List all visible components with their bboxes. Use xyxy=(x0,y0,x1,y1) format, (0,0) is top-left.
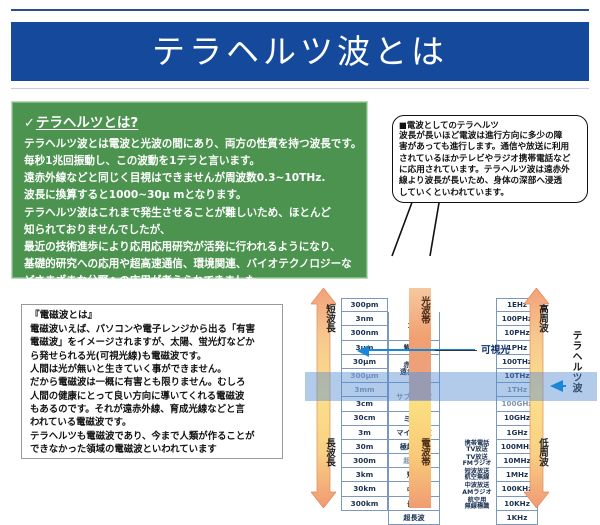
em-line: 人間は光が無いと生きていく事ができません。 xyxy=(30,363,275,376)
electromagnetic-wave-panel: 『電磁波とは』 電磁波いえば、パソコンや電子レンジから出る「有害 電磁波」をイメ… xyxy=(21,304,283,459)
visible-light-leader xyxy=(435,350,477,351)
terahertz-arrow-icon xyxy=(550,380,566,392)
callout-line: に応用されています。テラヘルツ波は遠赤外 xyxy=(399,165,582,176)
green-line: 遠赤外線などと同じく目視はできませんが周波数0.3~10THz. xyxy=(24,170,356,187)
page-title-banner: テラヘルツ波とは xyxy=(11,22,589,81)
green-line: 知られておりませんでしたが、 xyxy=(24,222,356,239)
wavelength-cell: 300m xyxy=(341,454,388,468)
radio-wave-callout: ■電波としてのテラヘルツ 波長が長いほど電波は進行方向に多少の障 害があっても進… xyxy=(392,115,588,203)
low-frequency-label: 低周波 xyxy=(524,438,549,467)
long-wavelength-label: 長波長 xyxy=(311,438,336,467)
green-line: 基礎的研究への応用や超高速通信、環境関連、バイオテクノロジーな xyxy=(24,256,356,273)
wavelength-cell: 3mm xyxy=(341,383,388,397)
wavelength-cell: 300μm xyxy=(341,369,388,383)
short-wavelength-label: 短波長 xyxy=(311,304,336,333)
em-line: できなかった領域の電磁波といわれています xyxy=(30,443,275,456)
em-line: 人間の健康にとって良い方向に導いてくれる電磁波 xyxy=(30,390,275,403)
callout-line: していくといわれています。 xyxy=(399,188,582,199)
application-column: 携帯電話TV放送TV放送FMラジオ短波放送航空無線中波放送AMラジオ航空用無線標… xyxy=(455,440,499,511)
terahertz-definition-heading: ✓ テラヘルツとは? xyxy=(24,111,356,131)
terahertz-definition-body: テラヘルツ波とは電波と光波の間にあり、両方の性質を持つ波長です。 毎秒1兆回振動… xyxy=(24,136,356,290)
visible-light-label: 可視光 xyxy=(481,342,510,356)
optical-band-label: 光波帯 xyxy=(409,296,431,324)
frequency-axis-arrow: 高周波 低周波 xyxy=(524,288,549,508)
terahertz-wave-label: テラヘルツ波 xyxy=(568,330,583,393)
radio-band-label: 電波帯 xyxy=(409,438,431,466)
em-line: だから電磁波は一概に有害とも限りません。むしろ xyxy=(30,376,275,389)
frequency-cell: 1KHz xyxy=(496,511,538,525)
wave-name-cell: 超長波 xyxy=(388,511,440,525)
wavelength-cell: 30cm xyxy=(341,412,388,426)
application-cell: 短波放送航空無線 xyxy=(455,468,499,482)
em-line: もあるのです。それが遠赤外線、育成光線などと言 xyxy=(30,403,275,416)
infographic-page: テラヘルツ波とは ✓ テラヘルツとは? テラヘルツ波とは電波と光波の間にあり、両… xyxy=(0,0,600,517)
green-line: テラヘルツ波はこれまで発生させることが難しいため、ほとんど xyxy=(24,205,356,222)
em-line: 電磁波」をイメージされますが、太陽、蛍光灯などか xyxy=(30,336,275,349)
em-line: 電磁波いえば、パソコンや電子レンジから出る「有害 xyxy=(30,323,275,336)
page-title: テラヘルツ波とは xyxy=(152,35,448,68)
green-line: 毎秒1兆回振動し、この波動を1テラと言います。 xyxy=(24,153,356,170)
electromagnetic-spectrum-chart: 短波長 長波長 300pm3nm300nm3μm30μm300μm3mm3cm3… xyxy=(305,288,597,513)
callout-line: されているほかテレビやラジオ携帯電話など xyxy=(399,154,582,165)
high-frequency-label: 高周波 xyxy=(524,304,549,333)
em-panel-heading: 『電磁波とは』 xyxy=(30,310,275,323)
wavelength-cell: 3nm xyxy=(341,312,388,326)
wavelength-cell: 300nm xyxy=(341,326,388,340)
top-divider xyxy=(11,9,589,11)
callout-line: 波長が長いほど電波は進行方向に多少の障 xyxy=(399,131,582,142)
callout-heading: ■電波としてのテラヘルツ xyxy=(399,120,582,131)
em-line: われている電磁波です。 xyxy=(30,416,275,429)
wavelength-column: 300pm3nm300nm3μm30μm300μm3mm3cm30cm3m30m… xyxy=(341,298,388,511)
callout-line: 線より波長が長いため、身体の深部へ浸透 xyxy=(399,176,582,187)
band-bar: 光波帯 電波帯 xyxy=(409,288,431,508)
application-cell: 中波放送AMラジオ xyxy=(455,483,499,497)
terahertz-definition-panel: ✓ テラヘルツとは? テラヘルツ波とは電波と光波の間にあり、両方の性質を持つ波長… xyxy=(12,102,367,278)
em-line: テラヘルツも電磁波であり、今まで人類が作ることが xyxy=(30,430,275,443)
visible-light-arrow-icon xyxy=(357,345,371,357)
em-line: ら発せられる光(可視光線)も電磁波です。 xyxy=(30,350,275,363)
application-cell: 航空用無線標識 xyxy=(455,497,499,511)
check-mark-icon: ✓ xyxy=(24,116,35,131)
wavelength-cell: 30km xyxy=(341,482,388,496)
green-line: 波長に換算すると1000~30μ mとなります。 xyxy=(24,187,356,204)
title-underline xyxy=(11,88,589,89)
wavelength-cell: 300km xyxy=(341,497,388,511)
green-line: テラヘルツ波とは電波と光波の間にあり、両方の性質を持つ波長です。 xyxy=(24,136,356,153)
wavelength-cell: 300pm xyxy=(341,298,388,312)
callout-line: 害があっても進行します。通信や放送に利用 xyxy=(399,142,582,153)
wavelength-cell: 3cm xyxy=(341,397,388,411)
wavelength-cell: 30m xyxy=(341,440,388,454)
wavelength-axis-arrow: 短波長 長波長 xyxy=(311,288,336,508)
application-cell: 携帯電話TV放送 xyxy=(455,440,499,454)
callout-tail xyxy=(380,196,480,258)
terahertz-definition-heading-text: テラヘルツとは? xyxy=(36,111,138,131)
wavelength-cell: 3m xyxy=(341,426,388,440)
green-line: 最近の技術進歩により応用応用研究が活発に行われるようになり、 xyxy=(24,239,356,256)
em-panel-body: 電磁波いえば、パソコンや電子レンジから出る「有害 電磁波」をイメージされますが、… xyxy=(30,323,275,456)
application-cell: TV放送FMラジオ xyxy=(455,454,499,468)
wavelength-cell: 3km xyxy=(341,468,388,482)
